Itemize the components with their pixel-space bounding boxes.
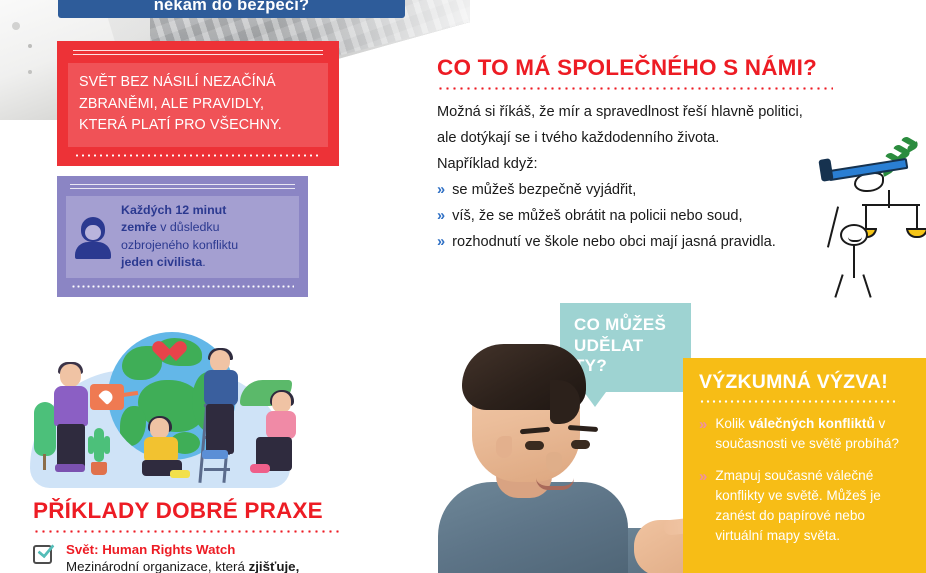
boy-hair bbox=[462, 344, 586, 410]
good-practice-entry-text: Mezinárodní organizace, která zjišťuje, bbox=[66, 558, 299, 573]
bullet-text: se můžeš bezpečně vyjádřit, bbox=[452, 178, 636, 204]
figure-leg-right bbox=[862, 274, 871, 298]
checkbox-check-icon bbox=[33, 543, 56, 566]
figure-arm bbox=[827, 206, 839, 247]
quote-top-rule bbox=[73, 50, 323, 55]
stat-reg-4: . bbox=[202, 255, 205, 269]
intro-paragraph-2: ale dotýkají se i tvého každodenního živ… bbox=[437, 126, 837, 152]
person-carrying-leaf-figure bbox=[248, 392, 308, 478]
quote-card: SVĚT BEZ NÁSILÍ NEZAČÍNÁ ZBRANĚMI, ALE P… bbox=[57, 41, 339, 166]
research-title-dots bbox=[699, 400, 899, 403]
research-challenge-box: VÝZKUMNÁ VÝZVA! » Kolik válečných konfli… bbox=[683, 358, 926, 573]
research-item-text: Zmapuj současné válečné konflikty ve svě… bbox=[715, 466, 912, 546]
watering-can-icon bbox=[86, 382, 132, 412]
chevron-icon: » bbox=[699, 414, 707, 454]
quote-inner-panel: SVĚT BEZ NÁSILÍ NEZAČÍNÁ ZBRANĚMI, ALE P… bbox=[68, 63, 328, 147]
person-watering-figure bbox=[52, 364, 92, 472]
quote-line-3: KTERÁ PLATÍ PRO VŠECHNY. bbox=[79, 115, 317, 137]
quote-bottom-dots bbox=[74, 154, 322, 157]
figure-body bbox=[853, 244, 855, 278]
intro-paragraph-3: Například když: bbox=[437, 152, 837, 178]
bullet-text: rozhodnutí ve škole nebo obci mají jasná… bbox=[452, 230, 776, 256]
stat-text: Každých 12 minut zemře v důsledku ozbroj… bbox=[121, 202, 238, 271]
civilian-avatar-icon bbox=[74, 215, 112, 259]
title-dotted-divider bbox=[437, 87, 833, 90]
stat-bottom-dots bbox=[71, 285, 294, 288]
good-practice-title: PŘÍKLADY DOBRÉ PRAXE bbox=[33, 498, 413, 524]
research-item-text: Kolik válečných konfliktů v současnosti … bbox=[715, 414, 912, 454]
gp-text-lead: Mezinárodní organizace, která bbox=[66, 559, 249, 573]
statistic-card: Každých 12 minut zemře v důsledku ozbroj… bbox=[57, 176, 308, 297]
chevron-icon: » bbox=[437, 204, 445, 230]
globe-illustration bbox=[8, 318, 328, 490]
section-title: CO TO MÁ SPOLEČNÉHO S NÁMI? bbox=[437, 55, 837, 81]
list-item: » víš, že se můžeš obrátit na policii ne… bbox=[437, 204, 837, 230]
good-practice-entry-heading: Svět: Human Rights Watch bbox=[66, 541, 299, 558]
sword-hilt-icon bbox=[818, 158, 833, 182]
quote-line-1: SVĚT BEZ NÁSILÍ NEZAČÍNÁ bbox=[79, 72, 317, 94]
justice-figure-illustration bbox=[808, 146, 920, 294]
list-item: » rozhodnutí ve škole nebo obci mají jas… bbox=[437, 230, 837, 256]
scale-pan-right bbox=[906, 228, 926, 238]
chevron-icon: » bbox=[699, 466, 707, 546]
infographic-page: někam do bezpečí? SVĚT BEZ NÁSILÍ NEZAČÍ… bbox=[0, 0, 926, 573]
boy-ear bbox=[496, 436, 512, 458]
blue-banner: někam do bezpečí? bbox=[58, 0, 405, 18]
intro-paragraph-1: Možná si říkáš, že mír a spravedlnost ře… bbox=[437, 100, 837, 126]
stat-top-rule bbox=[70, 184, 295, 189]
stat-bold-1: Každých 12 minut bbox=[121, 203, 226, 217]
figure-leg-left bbox=[834, 274, 843, 298]
research-challenge-title: VÝZKUMNÁ VÝZVA! bbox=[699, 371, 912, 394]
heart-icon bbox=[158, 342, 182, 364]
list-item: Svět: Human Rights Watch Mezinárodní org… bbox=[33, 541, 413, 573]
good-practice-section: PŘÍKLADY DOBRÉ PRAXE Svět: Human Rights … bbox=[33, 498, 413, 573]
quote-line-2: ZBRANĚMI, ALE PRAVIDLY, bbox=[79, 94, 317, 116]
stat-inner-panel: Každých 12 minut zemře v důsledku ozbroj… bbox=[66, 196, 299, 278]
stat-reg-2: v důsledku bbox=[157, 220, 220, 234]
list-item: » Zmapuj současné válečné konflikty ve s… bbox=[699, 466, 912, 546]
list-item: » se můžeš bezpečně vyjádřit, bbox=[437, 178, 837, 204]
research-item-lead: Kolik bbox=[715, 416, 748, 431]
chevron-icon: » bbox=[437, 230, 445, 256]
chevron-icon: » bbox=[437, 178, 445, 204]
person-kneeling-figure bbox=[140, 418, 196, 480]
right-column: CO TO MÁ SPOLEČNÉHO S NÁMI? Možná si řík… bbox=[437, 55, 837, 256]
blue-banner-text: někam do bezpečí? bbox=[154, 0, 310, 14]
figure-head bbox=[840, 224, 868, 246]
scales-beam bbox=[862, 204, 920, 206]
teen-boy-photo bbox=[438, 330, 706, 573]
gp-text-bold: zjišťuje, bbox=[249, 559, 300, 573]
list-item: » Kolik válečných konfliktů v současnost… bbox=[699, 414, 912, 454]
stat-reg-3: ozbrojeného konfliktu bbox=[121, 238, 238, 252]
research-item-bold: válečných konfliktů bbox=[749, 416, 875, 431]
stat-bold-2: zemře bbox=[121, 220, 157, 234]
person-on-ladder-figure bbox=[198, 348, 244, 466]
stat-bold-4: jeden civilista bbox=[121, 255, 202, 269]
good-practice-dots bbox=[33, 530, 343, 533]
bullet-text: víš, že se můžeš obrátit na policii nebo… bbox=[452, 204, 742, 230]
